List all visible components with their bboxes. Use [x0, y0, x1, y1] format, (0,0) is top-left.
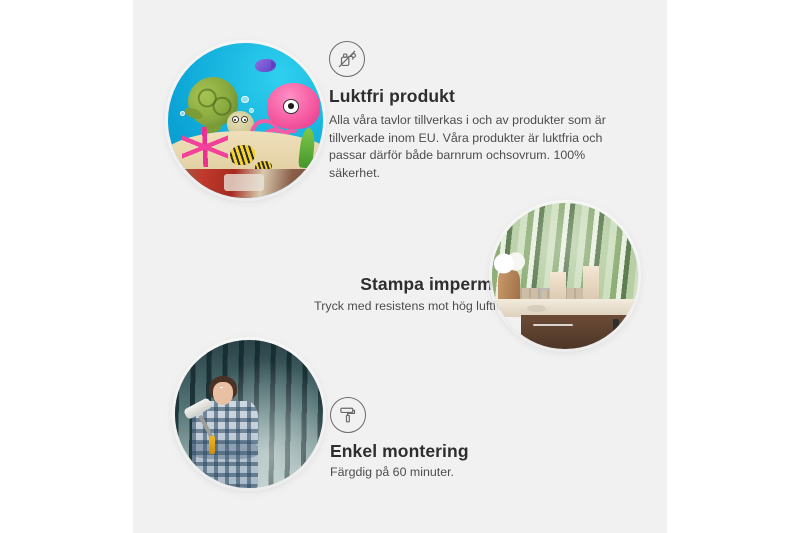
turtle-eye — [241, 116, 248, 123]
no-perfume-icon — [329, 41, 365, 77]
feature-easy-mounting: Enkel montering Färgdig på 60 minuter. — [330, 397, 630, 482]
ocean-photo — [168, 43, 323, 198]
wooden-cabinet — [521, 315, 638, 349]
countertop — [492, 299, 638, 317]
infographic-panel: Luktfri produkt Alla våra tavlor tillver… — [133, 0, 667, 533]
flowers-icon — [492, 251, 526, 276]
forest-photo — [175, 340, 323, 488]
feature-odour-free: Luktfri produkt Alla våra tavlor tillver… — [329, 41, 625, 183]
room-photo-strip — [168, 169, 323, 198]
feature-title: Luktfri produkt — [329, 86, 625, 107]
hand-tool — [209, 436, 215, 454]
coral-icon — [182, 127, 229, 167]
crossed-arms — [192, 441, 258, 459]
octopus-head — [267, 83, 320, 129]
octopus-eye — [283, 99, 299, 114]
woman-figure — [187, 376, 270, 488]
paint-roller-icon — [330, 397, 366, 433]
face — [213, 382, 234, 404]
bathroom-photo — [492, 203, 638, 349]
feature-title: Enkel montering — [330, 441, 630, 462]
turtle-eye — [232, 116, 239, 123]
candle-icon — [583, 266, 599, 304]
feature-description: Alla våra tavlor tillverkas i och av pro… — [329, 112, 625, 183]
smile — [220, 387, 222, 388]
feature-description: Färgdig på 60 minuter. — [330, 464, 630, 482]
infographic-page: Luktfri produkt Alla våra tavlor tillver… — [0, 0, 800, 533]
